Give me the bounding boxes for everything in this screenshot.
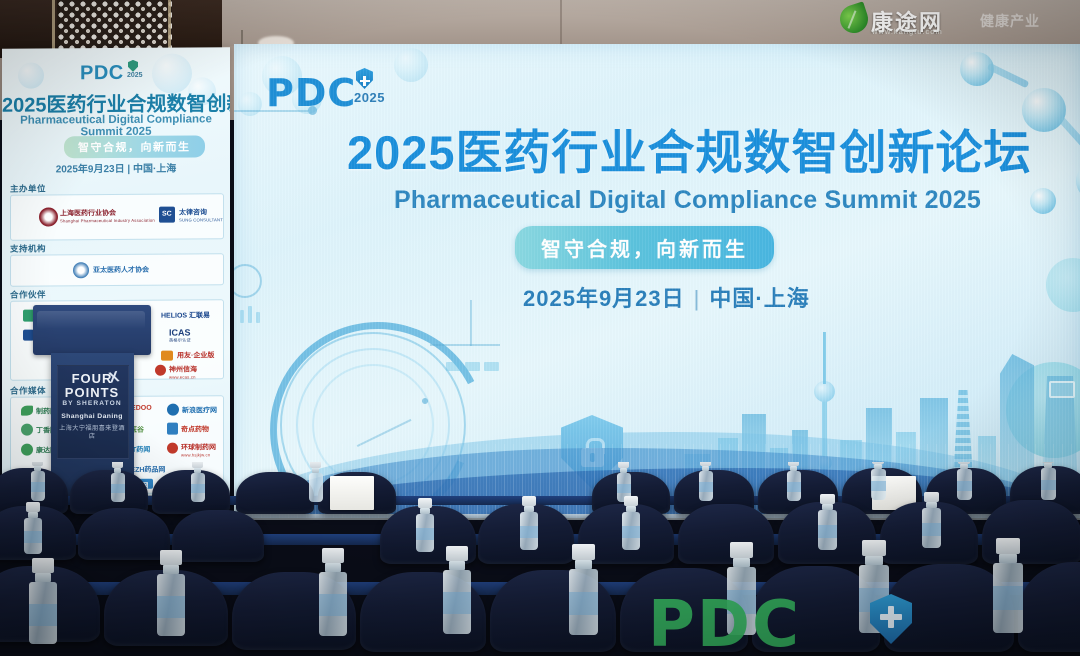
cross-horizontal	[880, 614, 902, 620]
molecule-bond	[987, 63, 1030, 89]
bottle-cap	[730, 542, 753, 558]
bottle-cap	[418, 498, 432, 508]
wall-decor-panel	[57, 0, 175, 52]
podium-top-highlight	[37, 311, 145, 329]
bottle-label	[569, 592, 598, 615]
screen-date: 2025年9月23日	[523, 286, 685, 311]
bottle-neck	[449, 561, 465, 570]
hud-bar	[240, 310, 244, 323]
seat	[236, 472, 314, 514]
media-sub: www.hsjkjw.cn	[181, 452, 216, 457]
podium-brand-line2: POINTS	[63, 385, 121, 400]
media-emblem	[167, 443, 178, 454]
wall-seam	[560, 0, 562, 46]
hud-line	[430, 344, 500, 346]
banner-section-label: 主办单位	[10, 182, 46, 194]
bottle-cap	[522, 496, 536, 506]
conference-photo: PDC 2025 2025医药行业合规数智创新论坛 Pharmaceutical…	[0, 0, 1080, 656]
bottle-neck	[35, 573, 51, 582]
hud-bar	[248, 306, 252, 323]
banner-logo-word: PDC	[80, 62, 124, 85]
hud-bar	[465, 362, 480, 371]
bottle-neck	[163, 565, 179, 574]
seat	[78, 508, 170, 560]
pdc-logo-word: PDC	[266, 74, 356, 112]
bottle-cap	[996, 538, 1020, 554]
bottle-neck	[865, 556, 883, 565]
screen-title-en: Pharmaceutical Digital Compliance Summit…	[394, 186, 994, 215]
partner-sub: www.ecas.cn	[169, 374, 197, 379]
organizer-name: 太律咨询 SUNG CONSULTANT	[179, 207, 223, 222]
supporter-name: 亚太医药人才协会	[93, 265, 149, 275]
molecule-sphere	[1030, 188, 1056, 214]
molecule-bond	[1058, 116, 1080, 150]
banner-section-label: 支持机构	[10, 242, 46, 254]
led-screen: PDC 2025 2025医药行业合规数智创新论坛 Pharmaceutical…	[234, 44, 1080, 518]
molecule-sphere	[18, 63, 44, 89]
bottle-label	[319, 594, 347, 616]
bottle-cap	[322, 548, 344, 563]
molecule-sphere	[238, 92, 262, 116]
bottle-cap	[160, 550, 182, 565]
watermark-tagline: 健康产业	[980, 11, 1040, 31]
leaf-logo-icon	[836, 1, 871, 36]
partner-sub: 英格尔认证	[169, 337, 191, 343]
bottle-body	[309, 473, 323, 502]
watermark-top: 康途网 健康产业 www.kangtu.com	[840, 2, 1078, 36]
bottle-neck	[733, 558, 750, 567]
banner-tagline: 智守合规，向新而生	[64, 135, 205, 158]
screen-date-location: 2025年9月23日|中国·上海	[523, 281, 810, 313]
hud-bar	[446, 362, 461, 371]
bottle-cap	[446, 546, 468, 561]
media-emblem	[21, 424, 33, 436]
partner-emblem	[155, 365, 166, 376]
oriental-pearl-sphere	[814, 381, 835, 402]
swfc-aperture	[1049, 381, 1075, 398]
organizer-sub: SUNG CONSULTANT	[179, 217, 223, 222]
seat	[678, 504, 774, 564]
seat	[172, 510, 264, 562]
organizer-name: 上海医药行业协会 Shanghai Pharmaceutical Industr…	[60, 208, 155, 224]
bottle-label	[787, 482, 801, 492]
bottle-label	[1041, 480, 1056, 490]
bottle-label	[699, 482, 713, 492]
molecule-sphere	[1076, 162, 1080, 200]
bottle-label	[617, 484, 631, 493]
screen-title-cn: 2025医药行业合规数智创新论坛	[347, 128, 1007, 177]
media-emblem	[21, 444, 33, 456]
banner-date-line: 2025年9月23日 | 中国·上海	[2, 159, 230, 176]
watermark-bottom: PDC	[648, 588, 1080, 656]
bottle-label	[957, 481, 972, 491]
bottle-label	[111, 484, 125, 493]
podium-brand-by: BY SHERATON	[59, 400, 125, 407]
media-name: 奇点药物	[181, 424, 209, 434]
watermark-url: www.kangtu.com	[872, 27, 943, 36]
screen-tagline: 智守合规，向新而生	[515, 226, 774, 269]
molecule-sphere	[394, 48, 428, 82]
bottle-neck	[999, 554, 1017, 563]
bottle-cap	[624, 496, 638, 506]
bottle-neck	[575, 560, 592, 569]
partner-name: 神州信海 www.ecas.cn	[169, 364, 197, 379]
organizer-logo-box: 上海医药行业协会 Shanghai Pharmaceutical Industr…	[10, 193, 224, 240]
partner-emblem	[161, 351, 173, 361]
media-name: 新浪医疗网	[182, 405, 217, 415]
pdc-logo-year: 2025	[354, 90, 385, 105]
date-separator: |	[694, 286, 701, 312]
bottle-cap	[572, 544, 595, 560]
bottle-neck	[325, 563, 341, 572]
pdc-logo: PDC 2025	[266, 74, 356, 112]
bottle-cap	[820, 494, 835, 504]
bottle-label	[157, 596, 185, 618]
bottle-label	[416, 528, 434, 540]
media-emblem	[167, 404, 179, 416]
banner-section-label: 合作伙伴	[10, 288, 46, 300]
seat-name-card	[330, 476, 374, 510]
org-mark-sc-text: SC	[162, 211, 172, 218]
hud-dot	[422, 398, 428, 404]
shield-cross-icon	[128, 60, 138, 72]
accent-blob	[1046, 258, 1080, 312]
bottle-cap	[862, 540, 886, 556]
partner-name: HELIOS 汇联易	[161, 310, 210, 320]
bottle-label	[818, 525, 837, 538]
seat	[982, 500, 1080, 564]
bottle-label	[520, 526, 538, 538]
org-emblem	[39, 207, 58, 226]
watermark-pdc-word: PDC	[648, 588, 801, 656]
oriental-pearl-mast	[823, 332, 826, 384]
cross-horizontal	[360, 80, 370, 83]
bottle-label	[622, 526, 640, 538]
hud-bar	[256, 312, 260, 323]
podium-city: Shanghai Daning	[59, 413, 125, 420]
media-name: 环球制药网 www.hsjkjw.cn	[181, 442, 216, 457]
bottle-label	[29, 604, 57, 626]
organizer-sub: Shanghai Pharmaceutical Industry Associa…	[60, 218, 155, 224]
hud-clock-icon	[234, 264, 262, 298]
hud-bar	[484, 362, 499, 371]
bottle-label	[871, 481, 886, 491]
screen-location: 中国·上海	[709, 286, 809, 311]
bottle-cap	[32, 558, 54, 573]
podium-city-cn: 上海大宁福朋喜来登酒店	[59, 425, 125, 442]
bottle-cap	[26, 502, 40, 512]
bottle-label	[443, 592, 471, 614]
bottle-label	[922, 523, 941, 536]
bottle-label	[24, 531, 42, 543]
bottle-label	[31, 482, 45, 492]
bottle-label	[191, 484, 205, 493]
bottle-cap	[924, 492, 939, 502]
supporter-emblem	[73, 262, 89, 278]
banner-logo-year: 2025	[127, 72, 143, 79]
media-emblem	[167, 423, 178, 435]
supporter-logo-box: 亚太医药人才协会	[10, 253, 224, 286]
partner-name: ICAS 英格尔认证	[169, 327, 191, 343]
media-emblem	[21, 406, 33, 416]
hud-line	[470, 300, 472, 346]
partner-name: 用友·企业版	[177, 350, 214, 360]
